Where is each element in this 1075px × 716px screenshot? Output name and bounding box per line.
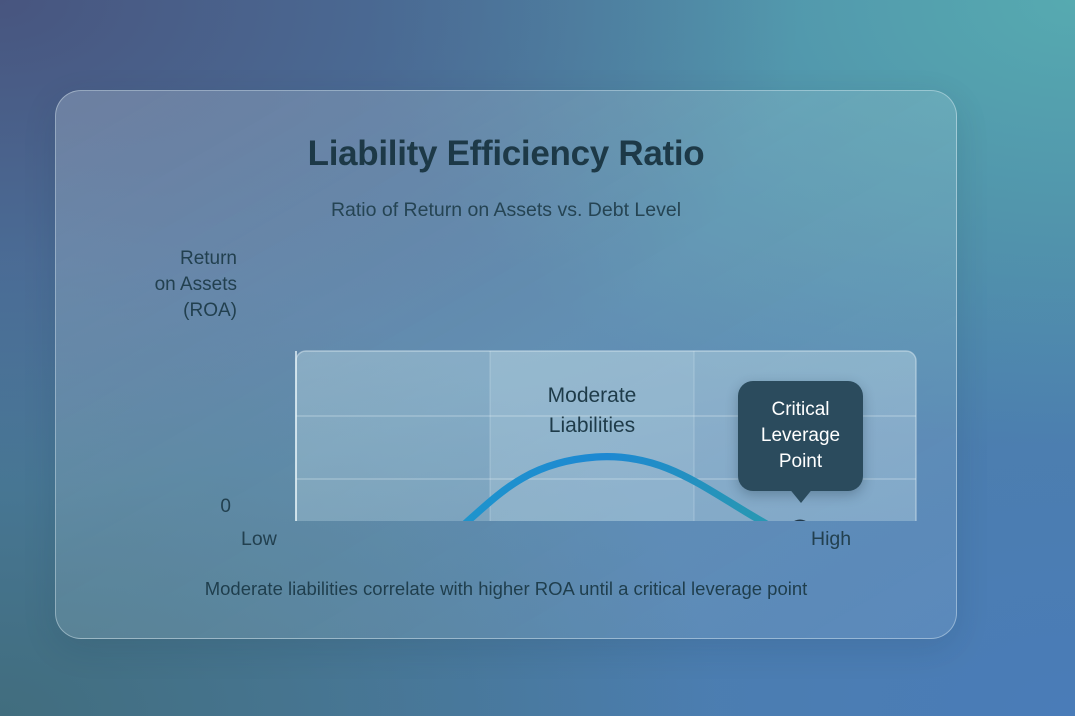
page-subtitle: Ratio of Return on Assets vs. Debt Level <box>56 199 956 222</box>
chart-caption: Moderate liabilities correlate with high… <box>56 578 956 600</box>
y-axis-label-line-2: on Assets <box>96 272 237 298</box>
tooltip-line-2: Leverage <box>761 423 840 449</box>
critical-leverage-point-tooltip[interactable]: Critical Leverage Point <box>738 381 863 491</box>
x-axis-label-low: Low <box>241 528 277 551</box>
y-axis-label-line-3: (ROA) <box>96 298 237 324</box>
band-label-line-2: Liabilities <box>490 411 694 441</box>
screenshot-canvas: Liability Efficiency Ratio Ratio of Retu… <box>0 0 1075 716</box>
tooltip-text: Critical Leverage Point <box>738 381 863 491</box>
page-title: Liability Efficiency Ratio <box>56 134 956 174</box>
y-axis-label: Return on Assets (ROA) <box>96 246 237 324</box>
y-axis-label-line-1: Return <box>96 246 237 272</box>
band-label-line-1: Moderate <box>490 381 694 411</box>
chart-card: Liability Efficiency Ratio Ratio of Retu… <box>55 90 957 639</box>
tooltip-line-3: Point <box>779 449 822 475</box>
tooltip-line-1: Critical <box>771 397 829 423</box>
band-label-moderate-liabilities: Moderate Liabilities <box>490 381 694 441</box>
x-axis-label-high: High <box>811 528 851 551</box>
